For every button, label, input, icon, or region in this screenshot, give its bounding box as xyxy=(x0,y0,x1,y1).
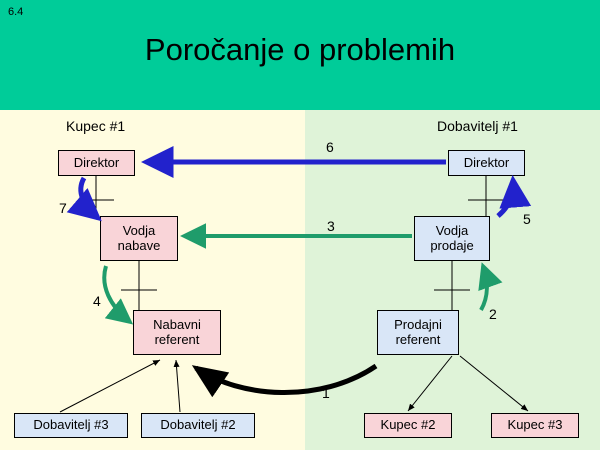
step-label-6: 6 xyxy=(326,139,334,155)
column-header-customer: Kupec #1 xyxy=(66,118,125,134)
box-left-purchasing-manager-line2: nabave xyxy=(118,239,161,254)
column-header-supplier: Dobavitelj #1 xyxy=(437,118,518,134)
box-customer-3[interactable]: Kupec #3 xyxy=(491,413,579,438)
step-label-2: 2 xyxy=(489,306,497,322)
step-label-3: 3 xyxy=(327,218,335,234)
left-panel-background xyxy=(0,110,305,450)
slide: 6.4 Poročanje o problemih Kupec #1 Dobav… xyxy=(0,0,600,450)
box-left-purchasing-clerk[interactable]: Nabavni referent xyxy=(133,310,221,355)
box-left-purchasing-manager[interactable]: Vodja nabave xyxy=(100,216,178,261)
step-label-7: 7 xyxy=(59,200,67,216)
box-left-purchasing-clerk-line2: referent xyxy=(155,333,200,348)
box-right-sales-clerk-line1: Prodajni xyxy=(394,318,442,333)
box-right-sales-manager-line2: prodaje xyxy=(430,239,473,254)
box-left-purchasing-clerk-line1: Nabavni xyxy=(153,318,201,333)
step-label-4: 4 xyxy=(93,293,101,309)
box-left-purchasing-manager-line1: Vodja xyxy=(123,224,156,239)
step-label-5: 5 xyxy=(523,211,531,227)
box-supplier-3[interactable]: Dobavitelj #3 xyxy=(14,413,128,438)
box-customer-2[interactable]: Kupec #2 xyxy=(364,413,452,438)
box-right-sales-clerk-line2: referent xyxy=(396,333,441,348)
box-right-director[interactable]: Direktor xyxy=(448,150,525,176)
slide-number: 6.4 xyxy=(8,6,23,18)
step-label-1: 1 xyxy=(322,385,330,401)
box-supplier-2[interactable]: Dobavitelj #2 xyxy=(141,413,255,438)
box-right-sales-manager-line1: Vodja xyxy=(436,224,469,239)
box-right-sales-manager[interactable]: Vodja prodaje xyxy=(414,216,490,261)
box-left-director[interactable]: Direktor xyxy=(58,150,135,176)
page-title: Poročanje o problemih xyxy=(0,32,600,68)
box-right-sales-clerk[interactable]: Prodajni referent xyxy=(377,310,459,355)
